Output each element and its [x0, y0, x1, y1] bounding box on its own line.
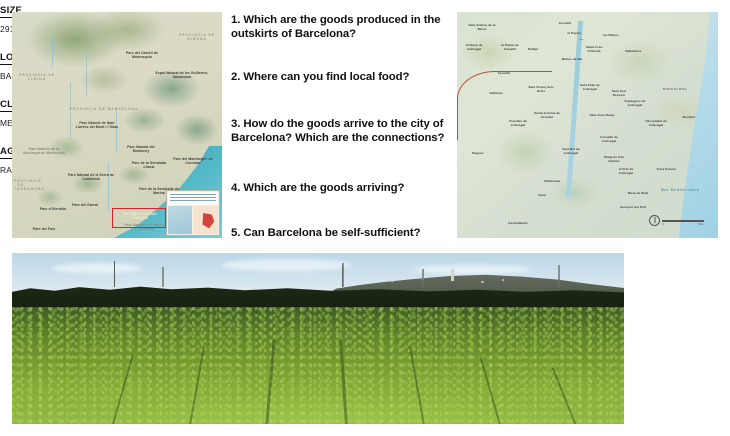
parc-agrari-label: Parc Agrari del Baix Llobregat: [115, 213, 165, 221]
park-label: Parc del Montnegre i el Corredor: [172, 158, 214, 166]
place-label: Viladecans: [541, 180, 563, 184]
building-speck: [502, 279, 504, 281]
industrial-chimney: [162, 267, 164, 287]
province-label: PROVINCIA DE GIRONA: [176, 34, 218, 42]
parc-agrari-highlight-box[interactable]: Parc Agrari del Baix Llobregat: [112, 208, 166, 228]
place-label: Begues: [469, 152, 487, 156]
park-label: Parc Natural de Sant Llorenc del Munt i …: [74, 122, 120, 130]
river-line: [52, 38, 53, 68]
cloud: [222, 259, 352, 271]
park-label: Parc Natural de la Serra de Collserola: [64, 174, 118, 182]
place-label: Esplugues de Llobregat: [621, 100, 649, 107]
park-label: Espai Natural de les Guilleries-Savasson…: [152, 72, 212, 80]
place-label: Platja de Can Camins: [601, 156, 627, 163]
place-label: Vallvidrera: [621, 50, 645, 54]
place-label: Pallejà: [525, 48, 541, 52]
province-label: PROVINCIA DE BARCELONA: [58, 108, 150, 112]
province-label: PROVINCIA DE LLEIDA: [16, 74, 58, 82]
place-label: Montjuïc: [679, 116, 699, 120]
crop-field: [12, 307, 624, 424]
place-label: Cervelló: [555, 22, 575, 26]
place-label: Zona Franca: [655, 168, 677, 172]
crop-texture: [12, 307, 624, 424]
place-label: Santa Coloma de Cervelló: [531, 112, 563, 119]
park-label: Parc d'Olerdola: [38, 208, 68, 212]
legend-line: [170, 197, 216, 198]
river-line: [116, 108, 117, 152]
building-speck: [481, 281, 484, 283]
scale-from: 0: [662, 222, 664, 226]
province-label: PROVINCIA DE TARRAGONA: [14, 180, 28, 192]
place-label: Vallirana: [485, 92, 507, 96]
park-label: Parc Natural de la Muntanya de Montserra…: [20, 148, 68, 156]
place-label: Sant Boi de Llobregat: [557, 148, 585, 155]
place-label: Gavà: [535, 194, 549, 198]
place-label: Santa Creu d'Olorda: [581, 46, 607, 53]
place-label: Aeroport del Prat: [619, 206, 647, 210]
regional-protected-areas-map[interactable]: PROVINCIA DE LLEIDA PROVINCIA DE GIRONA …: [12, 12, 222, 238]
river-line: [108, 162, 109, 212]
baix-llobregat-detail-map[interactable]: Sant Andreu de la Barca Corbera de Llobr…: [457, 12, 718, 238]
place-label: Riera de Rubí: [627, 192, 649, 196]
question-5: 5. Can Barcelona be self-sufficient?: [231, 227, 447, 241]
questions-list: 1. Which are the goods produced in the o…: [231, 14, 447, 238]
field-photograph[interactable]: [12, 253, 624, 424]
industrial-chimney: [558, 265, 560, 287]
place-label: Torrelles de Llobregat: [503, 120, 533, 127]
scale-bar: 0 5 km: [662, 220, 704, 226]
cloud: [412, 265, 532, 274]
cloud: [52, 263, 142, 273]
antenna-mast: [114, 261, 115, 287]
question-4: 4. Which are the goods arriving?: [231, 182, 447, 196]
industrial-chimney: [342, 263, 344, 287]
place-label: Molins de Rei: [561, 58, 583, 62]
question-2: 2. Where can you find local food?: [231, 71, 447, 85]
compass-icon: [649, 215, 660, 226]
river-line: [86, 50, 87, 96]
park-label: Parc del Castell de Montesquiu: [118, 52, 166, 60]
place-label: les Planes: [601, 34, 621, 38]
place-label: Castelldefels: [505, 222, 531, 226]
scale-to: 5 km: [698, 222, 704, 226]
sea-label: Mar Mediterrània: [657, 188, 703, 192]
locator-inset: [166, 190, 220, 236]
inset-map-iberia: [168, 206, 192, 234]
inset-legend: [168, 192, 218, 205]
catalonia-highlight-shape: [201, 213, 214, 228]
place-label: el Prat de Llobregat: [613, 168, 639, 175]
place-label: Sant Just Desvern: [607, 90, 631, 97]
park-label: Parc Natural del Montseny: [122, 146, 160, 154]
park-label: Parc del Foix: [30, 228, 58, 232]
question-1: 1. Which are the goods produced in the o…: [231, 14, 447, 42]
place-label: Cornellà de Llobregat: [595, 136, 623, 143]
church-tower: [451, 269, 454, 281]
legend-line: [170, 194, 216, 195]
place-label: el Papiol: [557, 32, 591, 36]
legend-line: [170, 200, 216, 201]
place-label: Corbera de Llobregat: [459, 44, 489, 51]
place-label: BARCELONA: [661, 88, 689, 92]
place-label: Sant Joan Despí: [589, 114, 615, 118]
place-label: la Palma de Cervelló: [495, 44, 525, 51]
place-label: l'Hospitalet de Llobregat: [639, 120, 673, 127]
industrial-chimney: [422, 269, 424, 287]
place-label: Sant Vicenç dels Horts: [527, 86, 555, 93]
red-route-line: [457, 71, 552, 140]
question-3: 3. How do the goods arrive to the city o…: [231, 118, 447, 146]
place-label: Sant Feliu de Llobregat: [575, 84, 605, 91]
park-label: Parc de la Serralada Litoral: [128, 162, 170, 170]
place-label: Sant Andreu de la Barca: [465, 24, 499, 31]
building-speck: [391, 280, 394, 282]
place-label: Cervelló: [495, 72, 513, 76]
inset-map-catalonia: [194, 206, 218, 234]
park-label: Parc del Garraf: [70, 204, 100, 208]
